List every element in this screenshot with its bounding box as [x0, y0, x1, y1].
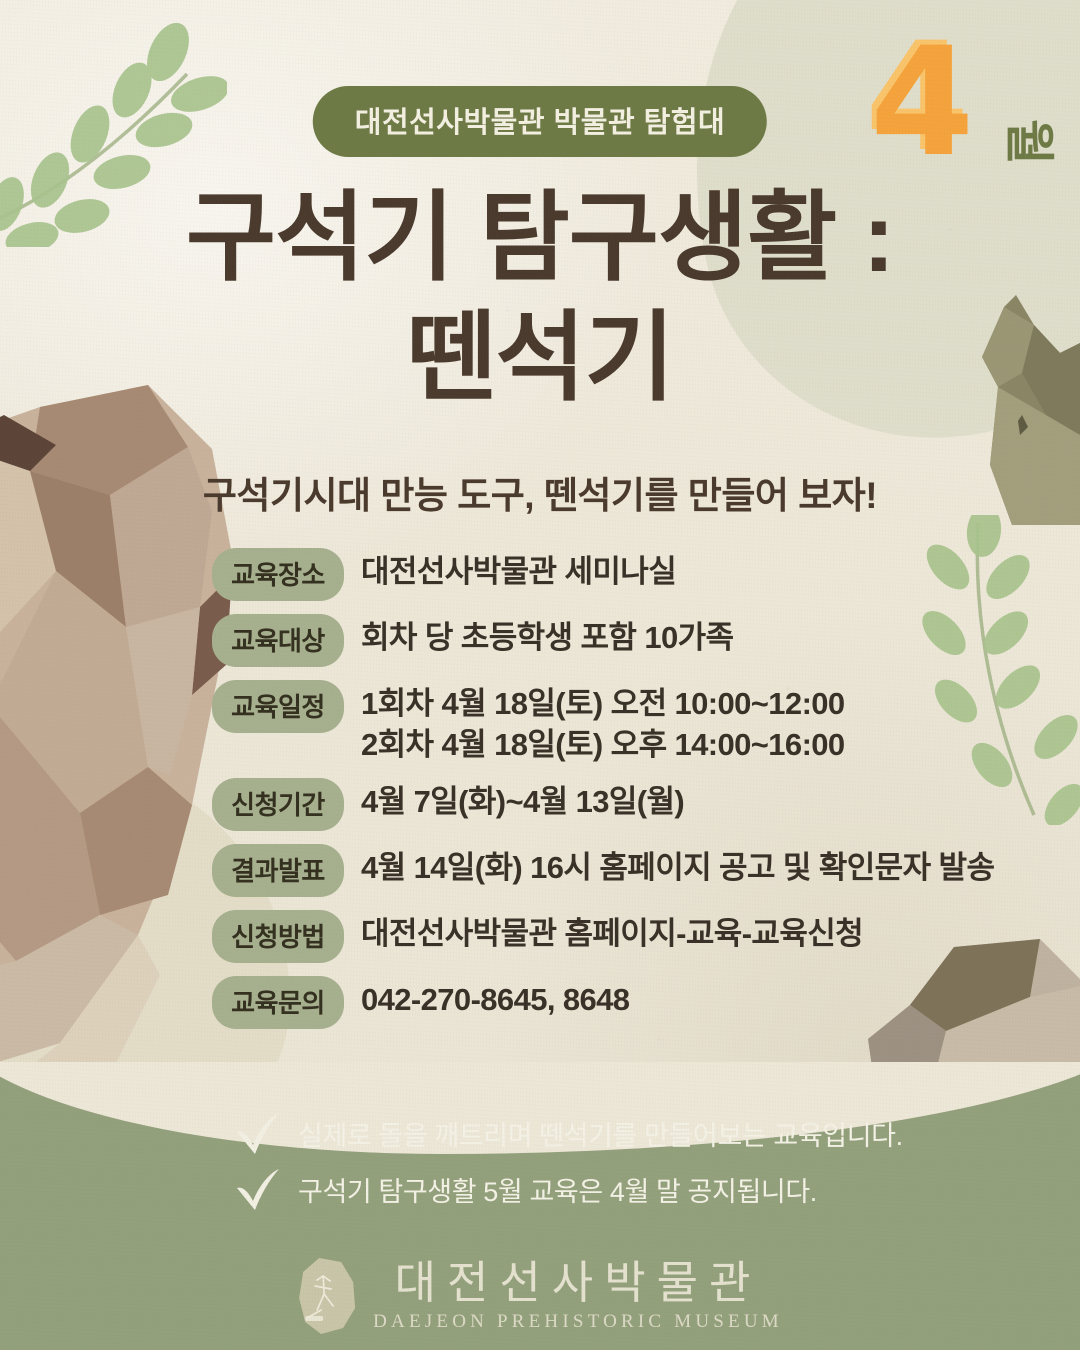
month-unit-label: 월	[997, 119, 1069, 165]
footer-notes: 실제로 돌을 깨트리며 뗀석기를 만들어보는 교육입니다. 구석기 탐구생활 5…	[232, 1110, 903, 1222]
museum-logo: 대전선사박물관 DAEJEON PREHISTORIC MUSEUM	[297, 1256, 783, 1336]
info-label-audience: 교육대상	[212, 614, 344, 667]
info-value: 회차 당 초등학생 포함 10가족	[361, 617, 733, 658]
footer-band: 실제로 돌을 깨트리며 뗀석기를 만들어보는 교육입니다. 구석기 탐구생활 5…	[0, 1062, 1080, 1350]
info-value: 대전선사박물관 홈페이지-교육-교육신청	[361, 913, 863, 954]
info-row-how-to-apply: 신청방법 대전선사박물관 홈페이지-교육-교육신청	[212, 910, 1002, 963]
info-value: 4월 7일(화)~4월 13일(월)	[361, 781, 684, 822]
info-values-contact: 042-270-8645, 8648	[361, 976, 629, 1020]
info-values-how-to-apply: 대전선사박물관 홈페이지-교육-교육신청	[361, 910, 863, 954]
info-label-location: 교육장소	[212, 548, 344, 601]
info-label-schedule: 교육일정	[212, 680, 344, 733]
month-number: 4	[870, 28, 974, 178]
museum-name-ko: 대전선사박물관	[373, 1260, 783, 1305]
poster-canvas: 대전선사박물관 박물관 탐험대 4 월 구석기 탐구생활 : 뗀석기 구석기시대…	[0, 0, 1080, 1350]
info-row-announcement: 결과발표 4월 14일(화) 16시 홈페이지 공고 및 확인문자 발송	[212, 844, 1002, 897]
info-row-schedule: 교육일정 1회차 4월 18일(토) 오전 10:00~12:00 2회차 4월…	[212, 680, 1002, 765]
info-label-application-period: 신청기간	[212, 778, 344, 831]
info-value: 2회차 4월 18일(토) 오후 14:00~16:00	[361, 724, 845, 765]
info-label-how-to-apply: 신청방법	[212, 910, 344, 963]
title-line-1: 구석기 탐구생활 :	[186, 182, 894, 292]
info-values-audience: 회차 당 초등학생 포함 10가족	[361, 614, 733, 658]
info-value: 1회차 4월 18일(토) 오전 10:00~12:00	[361, 683, 845, 724]
info-values-schedule: 1회차 4월 18일(토) 오전 10:00~12:00 2회차 4월 18일(…	[361, 680, 845, 765]
title-line-2: 뗀석기	[0, 298, 1080, 418]
footer-note-item: 구석기 탐구생활 5월 교육은 4월 말 공지됩니다.	[232, 1166, 903, 1212]
info-label-announcement: 결과발표	[212, 844, 344, 897]
info-row-location: 교육장소 대전선사박물관 세미나실	[212, 548, 1002, 601]
footer-note-item: 실제로 돌을 깨트리며 뗀석기를 만들어보는 교육입니다.	[232, 1110, 903, 1156]
info-label-contact: 교육문의	[212, 976, 344, 1029]
info-value: 4월 14일(화) 16시 홈페이지 공고 및 확인문자 발송	[361, 847, 994, 888]
program-badge: 대전선사박물관 박물관 탐험대	[313, 86, 767, 157]
info-row-application-period: 신청기간 4월 7일(화)~4월 13일(월)	[212, 778, 1002, 831]
check-icon	[232, 1110, 284, 1156]
info-value: 042-270-8645, 8648	[361, 979, 629, 1020]
info-table: 교육장소 대전선사박물관 세미나실 교육대상 회차 당 초등학생 포함 10가족…	[212, 548, 1002, 1042]
museum-name-en: DAEJEON PREHISTORIC MUSEUM	[373, 1311, 783, 1333]
page-subtitle: 구석기시대 만능 도구, 뗀석기를 만들어 보자!	[0, 465, 1080, 519]
info-values-application-period: 4월 7일(화)~4월 13일(월)	[361, 778, 684, 822]
info-value: 대전선사박물관 세미나실	[361, 551, 676, 592]
footer-note-text: 실제로 돌을 깨트리며 뗀석기를 만들어보는 교육입니다.	[298, 1114, 903, 1153]
page-title: 구석기 탐구생활 : 뗀석기	[0, 178, 1080, 417]
footer-note-text: 구석기 탐구생활 5월 교육은 4월 말 공지됩니다.	[298, 1170, 817, 1209]
museum-logo-text: 대전선사박물관 DAEJEON PREHISTORIC MUSEUM	[373, 1260, 783, 1333]
info-values-location: 대전선사박물관 세미나실	[361, 548, 676, 592]
museum-logo-stone-petroglyph-icon	[297, 1256, 359, 1336]
info-row-contact: 교육문의 042-270-8645, 8648	[212, 976, 1002, 1029]
check-icon	[232, 1166, 284, 1212]
info-values-announcement: 4월 14일(화) 16시 홈페이지 공고 및 확인문자 발송	[361, 844, 994, 888]
info-row-audience: 교육대상 회차 당 초등학생 포함 10가족	[212, 614, 1002, 667]
